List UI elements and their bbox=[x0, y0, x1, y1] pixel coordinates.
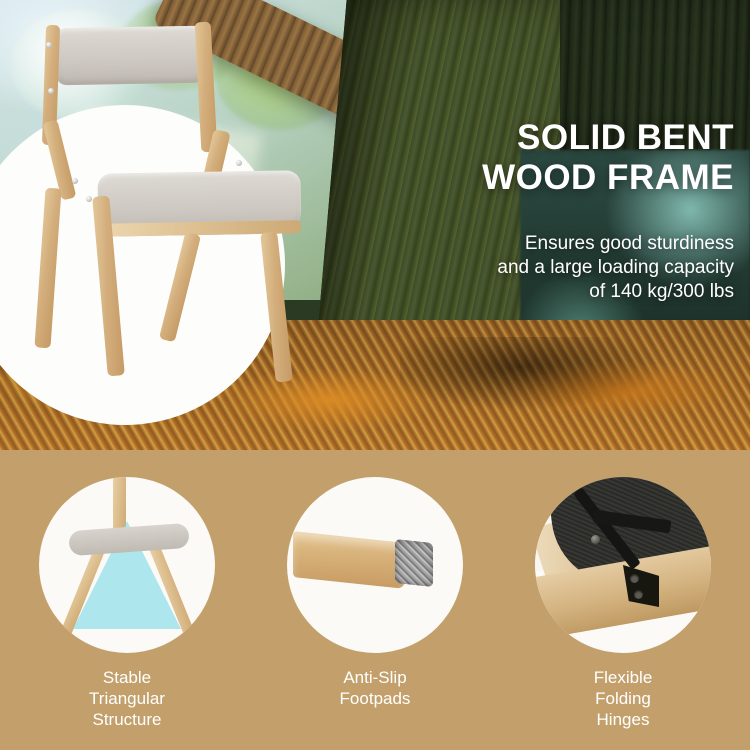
chair-leg-front-right bbox=[260, 232, 293, 383]
chair-leg-rear-left bbox=[34, 188, 61, 349]
chair-rivet bbox=[48, 88, 54, 94]
feature-item-anti-slip-footpads: Anti-Slip Footpads bbox=[287, 477, 463, 709]
caption-line-2: Footpads bbox=[287, 688, 463, 709]
floor-shadow bbox=[400, 337, 750, 432]
caption-line-2: Triangular bbox=[39, 688, 215, 709]
hero-section: SOLID BENT WOOD FRAME Ensures good sturd… bbox=[0, 0, 750, 450]
chair-rivet bbox=[236, 160, 242, 166]
feature-caption: Flexible Folding Hinges bbox=[535, 667, 711, 730]
feature-image-triangular-structure bbox=[39, 477, 215, 653]
headline-line-2: WOOD FRAME bbox=[314, 158, 734, 198]
feature-panel: Stable Triangular Structure Anti-Slip Fo… bbox=[0, 450, 750, 750]
caption-line-1: Stable bbox=[39, 667, 215, 688]
feature-caption: Anti-Slip Footpads bbox=[287, 667, 463, 709]
hinge-screw bbox=[591, 535, 600, 544]
subcopy-line-1: Ensures good sturdiness bbox=[314, 232, 734, 256]
hinge-hole bbox=[634, 590, 643, 599]
product-feature-graphic: SOLID BENT WOOD FRAME Ensures good sturd… bbox=[0, 0, 750, 750]
headline-line-1: SOLID BENT bbox=[314, 118, 734, 158]
subcopy-line-2: and a large loading capacity bbox=[314, 256, 734, 280]
feature-item-flexible-folding-hinges: Flexible Folding Hinges bbox=[535, 477, 711, 730]
caption-line-1: Flexible bbox=[535, 667, 711, 688]
chair-leg-cross bbox=[159, 232, 201, 343]
felt-footpad bbox=[395, 539, 433, 587]
caption-line-1: Anti-Slip bbox=[287, 667, 463, 688]
chair-rivet bbox=[46, 42, 52, 48]
subcopy-line-3: of 140 kg/300 lbs bbox=[314, 280, 734, 304]
hinge-hole bbox=[630, 574, 639, 583]
hero-headline: SOLID BENT WOOD FRAME bbox=[314, 118, 734, 198]
chair-rivet bbox=[72, 178, 78, 184]
hero-subcopy: Ensures good sturdiness and a large load… bbox=[314, 232, 734, 304]
feature-caption: Stable Triangular Structure bbox=[39, 667, 215, 730]
chair-backrest-cushion bbox=[56, 26, 205, 86]
feature-image-anti-slip-footpad bbox=[287, 477, 463, 653]
caption-line-3: Structure bbox=[39, 709, 215, 730]
caption-line-3: Hinges bbox=[535, 709, 711, 730]
chair-rivet bbox=[86, 196, 92, 202]
folding-chair-image bbox=[0, 0, 330, 430]
wooden-chair-leg bbox=[293, 531, 405, 589]
feature-item-stable-triangular-structure: Stable Triangular Structure bbox=[39, 477, 215, 730]
feature-image-folding-hinge bbox=[535, 477, 711, 653]
caption-line-2: Folding bbox=[535, 688, 711, 709]
